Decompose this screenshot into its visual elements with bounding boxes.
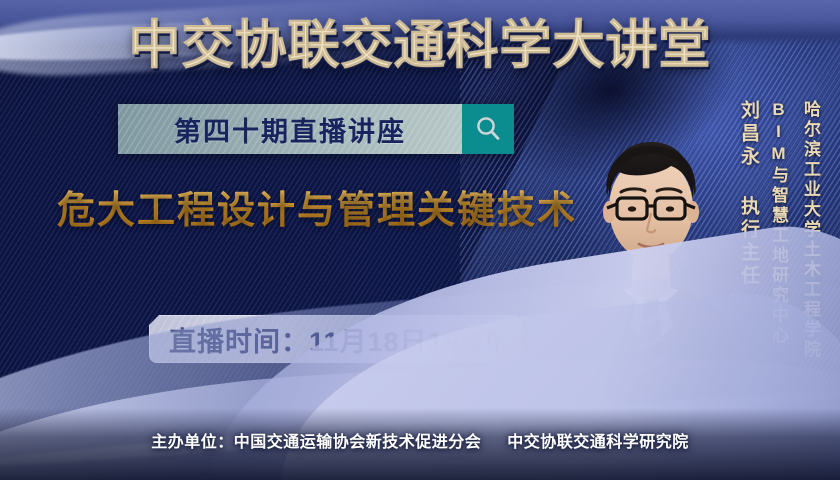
speaker-name: 刘昌永: [735, 100, 762, 169]
organizer-name-2: 中交协联交通科学研究院: [507, 434, 689, 451]
live-time-label: 直播时间：11月18日19:30: [169, 320, 502, 359]
speaker-role: 执行主任: [735, 196, 762, 288]
page-title: 中交协联交通科学大讲堂: [0, 17, 840, 75]
search-icon[interactable]: [462, 104, 514, 154]
live-lecture-poster: 中交协联交通科学大讲堂 第四十期直播讲座 危大工程设计与管理关键技术: [0, 0, 840, 480]
series-label-container: 第四十期直播讲座: [118, 104, 462, 154]
organizer-label: 主办单位：: [151, 434, 234, 451]
series-bar: 第四十期直播讲座: [118, 104, 514, 154]
lecture-title: 危大工程设计与管理关键技术: [57, 188, 577, 234]
speaker-portrait: [561, 96, 741, 396]
footer-organizers: 主办单位：中国交通运输协会新技术促进分会中交协联交通科学研究院: [0, 428, 840, 452]
organizer-name-1: 中国交通运输协会新技术促进分会: [234, 434, 482, 451]
speaker-affiliation: 哈尔滨工业大学土木工程学院: [798, 100, 823, 360]
live-time-badge: 直播时间：11月18日19:30: [149, 315, 522, 363]
speaker-center: BIM与智慧工地研究中心: [766, 100, 791, 346]
series-label: 第四十期直播讲座: [174, 110, 406, 149]
